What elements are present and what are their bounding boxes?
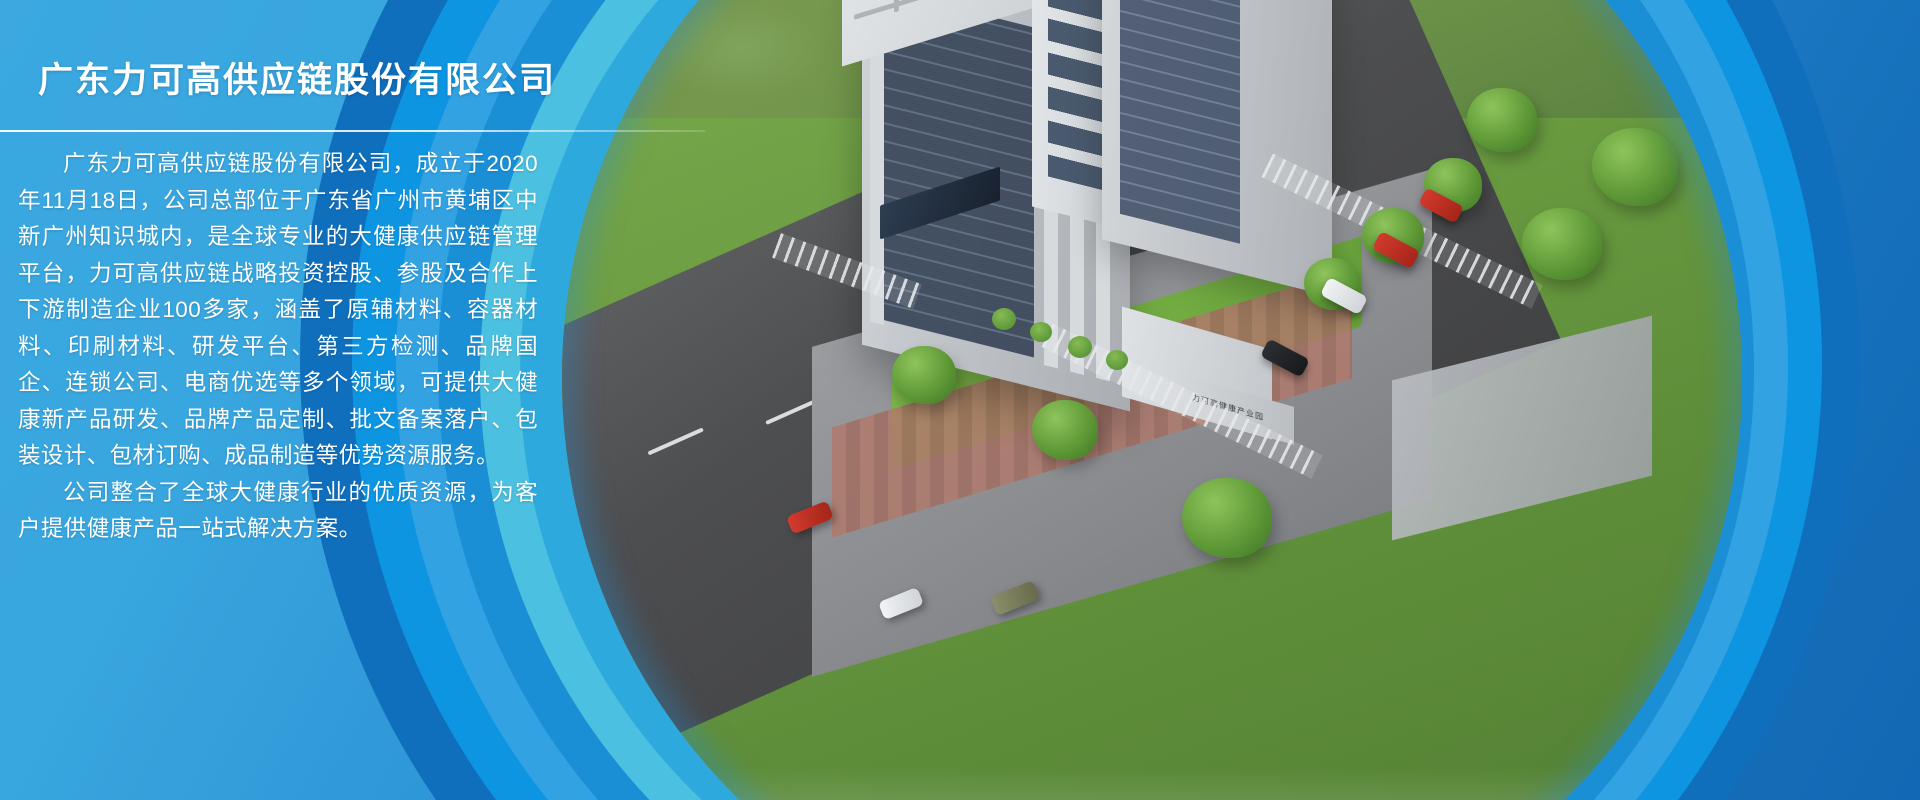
tree: [1592, 128, 1678, 206]
company-profile-banner: 力可高健康产业园: [0, 0, 1920, 800]
description-paragraph-2: 公司整合了全球大健康行业的优质资源，为客户提供健康产品一站式解决方案。: [18, 475, 538, 548]
shrub: [1106, 350, 1128, 370]
shrub: [1030, 322, 1052, 342]
tree: [1467, 88, 1537, 152]
title-divider: [0, 130, 705, 132]
tree: [1182, 478, 1272, 558]
text-panel: 广东力可高供应链股份有限公司 广东力可高供应链股份有限公司，成立于2020年11…: [0, 0, 760, 800]
curtain-wall-glazing: [1120, 0, 1240, 244]
shrub: [992, 308, 1016, 330]
shrub: [1068, 336, 1092, 358]
description-paragraph-1: 广东力可高供应链股份有限公司，成立于2020年11月18日，公司总部位于广东省广…: [18, 146, 538, 475]
page-title: 广东力可高供应链股份有限公司: [38, 52, 556, 103]
tree: [892, 346, 956, 404]
company-description: 广东力可高供应链股份有限公司，成立于2020年11月18日，公司总部位于广东省广…: [18, 146, 538, 548]
tree: [1522, 208, 1602, 280]
window-slots: [1048, 0, 1106, 191]
tree: [1032, 400, 1098, 460]
